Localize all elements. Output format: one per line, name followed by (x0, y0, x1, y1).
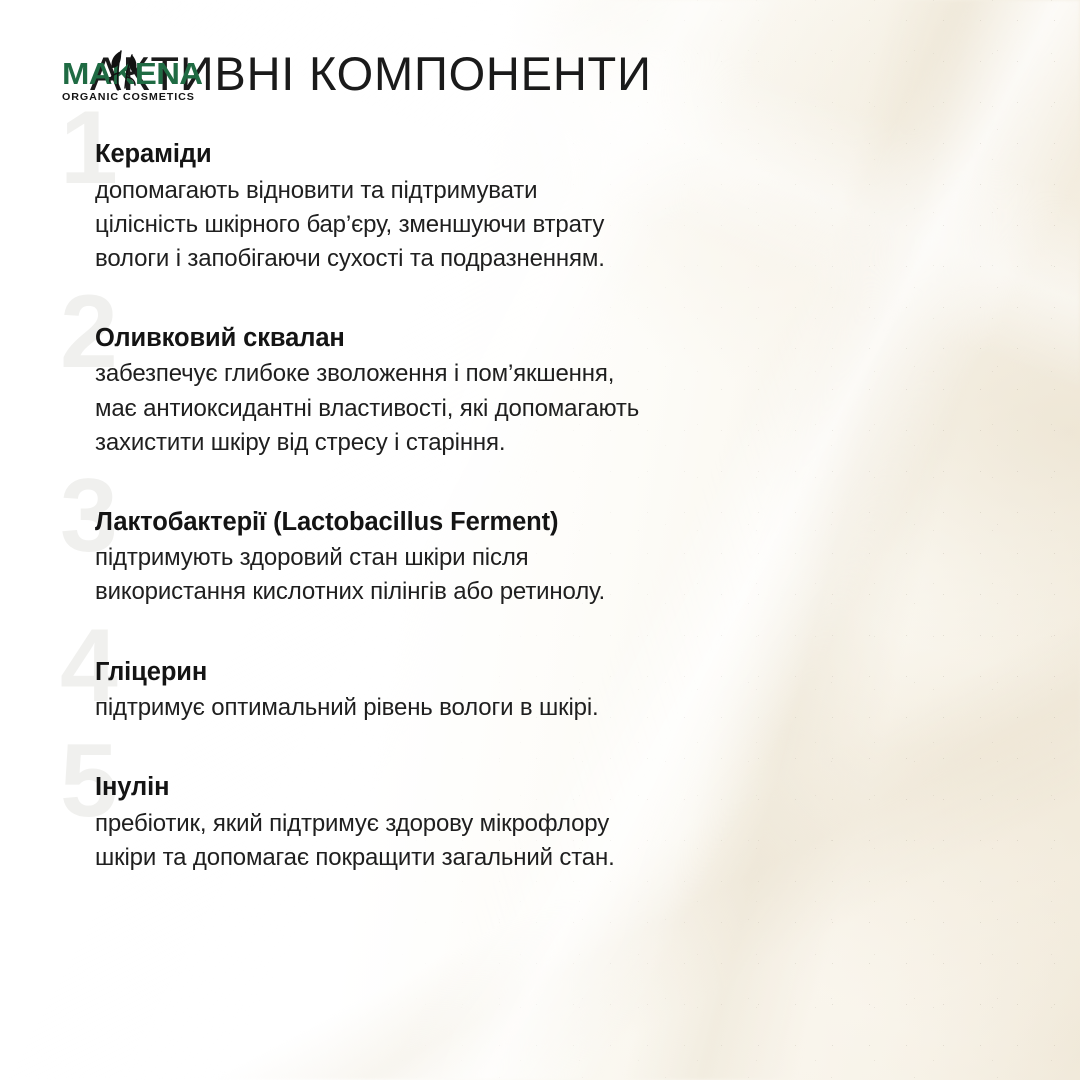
item-description: допомагають відновити та підтримувати ці… (95, 174, 892, 276)
brand-logo: MAKENA ORGANIC COSMETICS (62, 58, 180, 103)
ingredients-list: 1 Кераміди допомагають відновити та підт… (62, 138, 892, 875)
item-body: Оливковий сквалан забезпечує глибоке зво… (95, 322, 892, 460)
item-body: Інулін пребіотик, який підтримує здорову… (95, 771, 892, 875)
item-description: підтримує оптимальний рівень вологи в шк… (95, 691, 892, 725)
leaf-sprig-icon (101, 47, 141, 91)
list-item: 1 Кераміди допомагають відновити та підт… (62, 138, 892, 276)
item-description: пребіотик, який підтримує здорову мікроф… (95, 807, 892, 875)
item-body: Лактобактерії (Lactobacillus Ferment) пі… (95, 506, 892, 610)
item-description: забезпечує глибоке зволоження і пом’якше… (95, 357, 892, 459)
list-item: 5 Інулін пребіотик, який підтримує здоро… (62, 771, 892, 875)
poster-canvas: АКТИВНІ КОМПОНЕНТИ MAKENA ORGANIC COSMET… (0, 0, 1080, 1080)
list-item: 4 Гліцерин підтримує оптимальний рівень … (62, 656, 892, 726)
item-description: підтримують здоровий стан шкіри після ви… (95, 541, 892, 609)
brand-tagline: ORGANIC COSMETICS (62, 91, 182, 103)
item-name: Лактобактерії (Lactobacillus Ferment) (95, 506, 892, 539)
list-item: 2 Оливковий сквалан забезпечує глибоке з… (62, 322, 892, 460)
item-name: Інулін (95, 771, 892, 804)
item-body: Кераміди допомагають відновити та підтри… (95, 138, 892, 276)
item-name: Гліцерин (95, 656, 892, 689)
item-name: Оливковий сквалан (95, 322, 892, 355)
poster-header: АКТИВНІ КОМПОНЕНТИ MAKENA ORGANIC COSMET… (62, 48, 1022, 120)
item-name: Кераміди (95, 138, 892, 171)
list-item: 3 Лактобактерії (Lactobacillus Ferment) … (62, 506, 892, 610)
item-body: Гліцерин підтримує оптимальний рівень во… (95, 656, 892, 726)
